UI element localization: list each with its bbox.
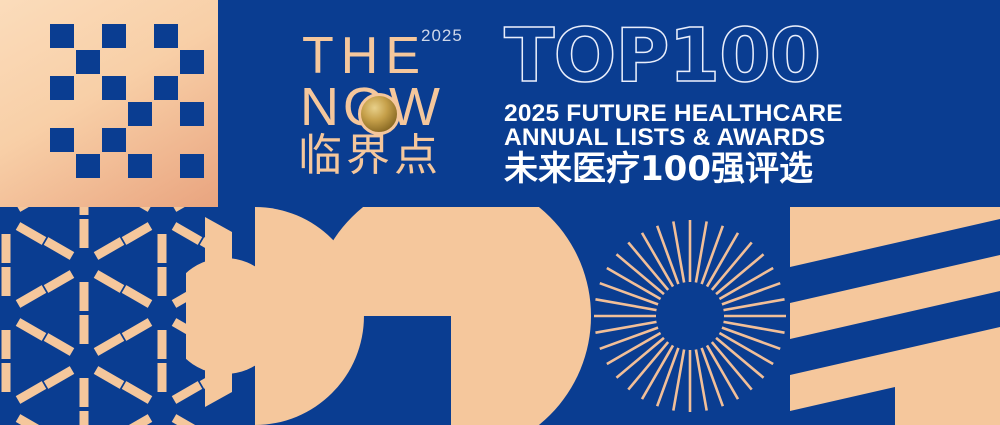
banner: THE 2025 NOW 临界点 TOP100 2025 FUTURE HEAL… bbox=[0, 0, 1000, 425]
logo-block: THE 2025 NOW 临界点 bbox=[296, 18, 486, 188]
checker-cell bbox=[76, 154, 100, 178]
chevron-stripes-pattern bbox=[790, 207, 1000, 425]
checker-cell bbox=[102, 76, 126, 100]
subtitle-english-line2: ANNUAL LISTS & AWARDS bbox=[504, 126, 825, 151]
headline-top100: TOP100 bbox=[504, 22, 820, 90]
checker-cell bbox=[180, 102, 204, 126]
checker-cell bbox=[128, 154, 152, 178]
checker-cell bbox=[180, 50, 204, 74]
checkerboard-pattern bbox=[0, 0, 218, 207]
checker-cell bbox=[102, 128, 126, 152]
circle-shapes bbox=[186, 207, 606, 425]
logo-year: 2025 bbox=[421, 26, 463, 46]
checker-cell bbox=[180, 154, 204, 178]
circle-shapes-svg bbox=[186, 207, 606, 425]
checker-cell bbox=[50, 128, 74, 152]
checker-cell bbox=[128, 102, 152, 126]
sunburst-svg bbox=[580, 207, 800, 425]
checker-cell bbox=[50, 76, 74, 100]
subtitle-english-line1: 2025 FUTURE HEALTHCARE bbox=[504, 102, 843, 127]
chevron-svg bbox=[790, 207, 1000, 425]
logo-line-the: THE bbox=[302, 30, 427, 82]
checker-cell bbox=[50, 24, 74, 48]
logo-line-chinese: 临界点 bbox=[298, 134, 442, 178]
title-block: TOP100 2025 FUTURE HEALTHCARE ANNUAL LIS… bbox=[504, 22, 844, 192]
pac-disc bbox=[311, 207, 591, 425]
checker-cell bbox=[154, 76, 178, 100]
checker-cell bbox=[76, 50, 100, 74]
subtitle-chinese: 未来医疗100强评选 bbox=[504, 152, 813, 186]
checker-cell bbox=[102, 24, 126, 48]
checker-cell bbox=[154, 24, 178, 48]
gold-orb-icon bbox=[358, 93, 400, 135]
sunburst-pattern bbox=[580, 207, 800, 425]
